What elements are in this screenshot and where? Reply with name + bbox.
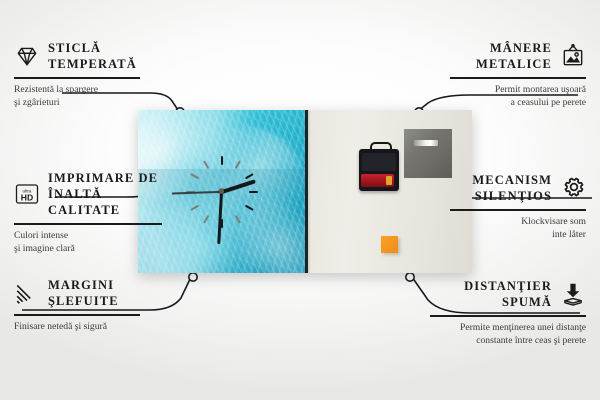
svg-text:HD: HD (21, 192, 33, 202)
diagonal-lines-icon (14, 280, 40, 306)
callout-rule (450, 209, 586, 211)
callout-subtitle: Permite menţinerea unei distanţe constan… (426, 321, 586, 347)
callout-heading: MÂNERE METALICE (446, 40, 586, 72)
panel-edge (308, 110, 311, 273)
hanger-slot (414, 140, 438, 146)
connector-dot-distantier (406, 273, 414, 281)
battery (361, 174, 394, 187)
callout-subtitle: Culori intense şi imagine clară (14, 229, 166, 255)
callout-rule (430, 315, 586, 317)
callout-heading: STICLĂ TEMPERATĂ (14, 40, 144, 72)
callout-subtitle: Klockvisare som inte låter (446, 215, 586, 241)
callout-title: IMPRIMARE DE ÎNALTĂ CALITATE (48, 170, 166, 218)
callout-margini-slefuite: MARGINI ŞLEFUITE Finisare netedă şi sigu… (14, 277, 144, 333)
callout-rule (450, 77, 586, 79)
callout-subtitle: Permit montarea uşoară a ceasului pe per… (446, 83, 586, 109)
callout-heading: MECANISM SILENŢIOS (446, 172, 586, 204)
callout-title: MECANISM SILENŢIOS (472, 172, 552, 204)
connector-dot-margini (189, 273, 197, 281)
arrow-down-pad-icon (560, 281, 586, 307)
ultra-hd-icon: ultra HD (14, 181, 40, 207)
callout-mecanism-silentios: MECANISM SILENŢIOS Klockvisare som inte … (446, 172, 586, 241)
framed-picture-hanger-icon (560, 43, 586, 69)
callout-heading: DISTANŢIER SPUMĂ (426, 278, 586, 310)
callout-title: MARGINI ŞLEFUITE (48, 277, 119, 309)
callout-title: DISTANŢIER SPUMĂ (464, 278, 552, 310)
battery-terminal (386, 176, 392, 185)
callout-imprimare-inalta-calitate: ultra HD IMPRIMARE DE ÎNALTĂ CALITATE Cu… (14, 170, 166, 255)
infographic-canvas: STICLĂ TEMPERATĂ Rezistentă la spargere … (0, 0, 600, 400)
callout-heading: ultra HD IMPRIMARE DE ÎNALTĂ CALITATE (14, 170, 166, 218)
callout-rule (14, 223, 162, 225)
callout-subtitle: Rezistentă la spargere şi zgârieturi (14, 83, 144, 109)
metal-hanger-plate (404, 129, 452, 178)
callout-distantier-spuma: DISTANŢIER SPUMĂ Permite menţinerea unei… (426, 278, 586, 347)
clock-second-hand (172, 191, 222, 194)
gear-icon (560, 175, 586, 201)
clock-center-pin (219, 189, 224, 194)
callout-title: STICLĂ TEMPERATĂ (48, 40, 137, 72)
product-image (138, 110, 472, 273)
callout-heading: MARGINI ŞLEFUITE (14, 277, 144, 309)
diamond-icon (14, 43, 40, 69)
callout-subtitle: Finisare netedă şi sigură (14, 320, 144, 333)
foam-spacer (381, 236, 398, 253)
callout-manere-metalice: MÂNERE METALICE Permit montarea uşoară a… (446, 40, 586, 109)
clock-mechanism (359, 149, 399, 191)
callout-title: MÂNERE METALICE (476, 40, 552, 72)
mechanism-hook (370, 142, 392, 153)
mechanism-housing (362, 153, 396, 171)
callout-sticla-temperata: STICLĂ TEMPERATĂ Rezistentă la spargere … (14, 40, 144, 109)
callout-rule (14, 77, 140, 79)
callout-rule (14, 314, 140, 316)
